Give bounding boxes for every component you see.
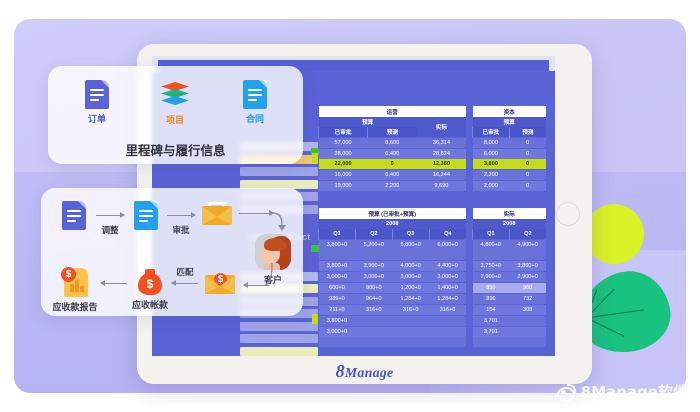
cell: 3,800 [473,159,510,170]
cell [473,250,547,261]
table-row[interactable]: 3,750+03,860+0 [473,261,547,272]
cell: 960 [509,283,546,294]
budget-col-q2: Q2 [355,229,392,240]
envelope-icon [202,202,232,225]
cell: 57,000 [319,138,368,149]
cell: 3,750+0 [473,261,510,272]
table-row[interactable]: 3,800+03,900+04,000+04,400+0 [319,261,467,272]
arrow-match [172,283,198,284]
arrow-curve-up [263,262,279,293]
cell: 1,200+0 [392,283,429,294]
cell: 732 [509,294,546,305]
operations-table[interactable]: 运营 预算 实际 已审批 预测 57,0008,60036,314 38,000… [318,106,466,191]
order-item[interactable]: 订单 [66,80,128,125]
cell: 3,000+0 [355,272,392,283]
cell [509,327,546,338]
table-row[interactable] [319,337,467,347]
table-row[interactable] [473,337,547,347]
arrow-to-customer [239,213,273,214]
milestone-card: 订单 项目 合同 里程碑与履行信息 [48,66,303,164]
cell: 308 [509,305,546,316]
receivables-flow-card: 调整 审批 客户 [41,188,303,316]
cell: 8,600 [368,138,417,149]
cell: 4,900+0 [509,240,546,251]
arrow-approve [167,215,195,216]
cell: 0 [509,159,546,170]
receivable-report-icon: $ [62,268,88,297]
cell: 16,244 [417,170,466,181]
cell: 316+0 [429,305,466,316]
cell [473,337,547,347]
budget-col-q3: Q3 [392,229,429,240]
table-row[interactable]: 8,0000 [473,138,547,149]
cell: 3,000+0 [319,327,356,338]
tablet-brand-logo: 8Manage [137,361,592,382]
budget-table[interactable]: 预算 (已审批+预算) 2008 Q1 Q2 Q3 Q4 3,800+05,20… [318,208,466,347]
actual-group-header: 实际 [473,208,547,219]
cell: 6,000 [473,149,510,160]
table-row[interactable]: 19,0002,2009,690 [319,181,467,192]
table-row[interactable]: 211+0316+0316+0316+0 [319,305,467,316]
brand-eight: 8 [336,361,345,381]
project-label: 项目 [144,113,206,126]
receivable-report-label: 应收款报告 [40,300,110,313]
cell: 8,000 [473,138,510,149]
milestone-caption: 里程碑与履行信息 [48,140,303,159]
capital-col-approved: 已审批 [473,127,510,138]
lime-circle-decoration [584,204,644,264]
table-row-highlighted[interactable]: 22,000012,380 [319,159,467,170]
table-row[interactable]: 3,000+03,000+03,000+03,000+0 [319,272,467,283]
document-icon [85,80,109,109]
receivable-label: 应收帐款 [119,298,181,311]
table-row[interactable]: 16,0006,40016,244 [319,170,467,181]
table-row[interactable]: 3,000+0 [319,327,467,338]
table-row-highlighted[interactable]: 3,8000 [473,159,547,170]
cell: 5,800+0 [392,240,429,251]
table-row[interactable]: 989+0964+01,284+01,284+0 [319,294,467,305]
brand-word: Manage [345,366,394,381]
document-icon [134,201,158,230]
cell: 3,800+0 [319,316,356,327]
cell: 2,900+0 [473,272,510,283]
cell [355,327,392,338]
cell: 6,400 [368,149,417,160]
capital-group-header: 资本 [473,106,547,117]
document-icon [243,80,267,109]
adjust-source-doc[interactable] [59,201,89,230]
cell: 22,000 [319,159,368,170]
cell: 28,624 [417,149,466,160]
money-envelope-icon: $ [205,271,235,294]
cell: 3,800+0 [319,261,356,272]
cell: 1,284+0 [429,294,466,305]
operations-subgroup-header: 预算 [319,117,417,127]
project-item[interactable]: 项目 [144,82,206,126]
approve-doc[interactable] [131,201,161,230]
receivable-report-block[interactable]: $ 应收款报告 [58,268,92,313]
cell: 1,400+0 [429,283,466,294]
table-row[interactable]: 896732 [473,294,547,305]
contract-item[interactable]: 合同 [224,80,286,125]
cell: 3,701 [473,316,510,327]
money-bag-icon: $ [137,267,163,295]
cell [509,316,546,327]
table-row[interactable]: 6,0000 [473,149,547,160]
cell: 3,000+0 [392,272,429,283]
cell [392,327,429,338]
cell: 6,000+0 [429,240,466,251]
cell [355,316,392,327]
actual-year: 2008 [473,219,547,229]
actual-table[interactable]: 实际 2008 Q1 Q2 4,800+04,900+0 3,750+03,86… [472,208,546,347]
cell: 211+0 [319,305,356,316]
operations-col-forecast: 预测 [368,127,417,138]
cell: 4,400+0 [429,261,466,272]
cell: 896 [473,294,510,305]
cell [429,316,466,327]
cell: 4,800+0 [473,240,510,251]
tablet-home-button[interactable] [556,202,580,226]
cell [392,316,429,327]
layers-icon [161,82,189,108]
contract-label: 合同 [224,112,286,125]
cell: 6,400 [368,170,417,181]
table-row[interactable]: 154308 [473,305,547,316]
cell: 36,314 [417,138,466,149]
cell: 3,701 [473,327,510,338]
operations-col-actual: 实际 [417,117,466,138]
document-icon [62,201,86,230]
payment-envelope[interactable]: $ [203,271,237,294]
cell: 19,000 [319,181,368,192]
table-row[interactable]: 3,800+0 [319,316,467,327]
actual-col-q1: Q1 [473,229,510,240]
adjust-label: 调整 [90,224,130,236]
cell: 0 [509,170,546,181]
budget-col-q4: Q4 [429,229,466,240]
cell: 4,000+0 [392,261,429,272]
watermark: 8Manage软件 [557,381,688,402]
capital-subgroup-header: 预算 [473,117,547,127]
table-row-selected[interactable]: 850960 [473,283,547,294]
receivable-block[interactable]: $ 应收帐款 [133,267,167,311]
cell: 3,860+0 [509,261,546,272]
table-row[interactable]: 57,0008,60036,314 [319,138,467,149]
cell: 0 [509,149,546,160]
table-row[interactable]: 3,701 [473,316,547,327]
cell: 5,200+0 [355,240,392,251]
table-row[interactable] [319,250,467,261]
table-row[interactable] [473,250,547,261]
cell [319,250,467,261]
screenshot-stage: 8Manage USD [0,0,700,412]
operations-col-approved: 已审批 [319,127,368,138]
table-row[interactable]: 600+0900+01,200+01,400+0 [319,283,467,294]
table-row[interactable]: 3,701 [473,327,547,338]
cell: 9,690 [417,181,466,192]
cell: 12,380 [417,159,466,170]
cell [429,327,466,338]
match-label: 匹配 [167,266,203,278]
cell: 600+0 [319,283,356,294]
cell: 2,200 [473,170,510,181]
approve-label: 审批 [161,224,201,236]
table-row[interactable]: 2,0000 [473,181,547,192]
cell: 3,800+0 [319,240,356,251]
cell: 154 [473,305,510,316]
order-label: 订单 [66,112,128,125]
table-row[interactable]: 38,0006,40028,624 [319,149,467,160]
watermark-text: 8Manage软件 [581,381,688,402]
approval-envelope[interactable] [200,202,234,225]
cell: 38,000 [319,149,368,160]
cell: 2,000 [473,181,510,192]
cell: 316+0 [392,305,429,316]
cell: 1,284+0 [392,294,429,305]
budget-group-header: 预算 (已审批+预算) [319,208,467,219]
capital-table[interactable]: 资本 预算 已审批 预测 8,0000 6,0000 3,8000 2,2000… [472,106,546,191]
table-row[interactable]: 2,2000 [473,170,547,181]
table-row[interactable]: 2,900+02,900+0 [473,272,547,283]
arrow-adjust [96,215,124,216]
cell: 964+0 [355,294,392,305]
cell: 900+0 [355,283,392,294]
cell: 850 [473,283,510,294]
arrow-report [101,283,127,284]
cell: 316+0 [355,305,392,316]
cell: 3,000+0 [319,272,356,283]
cell: 16,000 [319,170,368,181]
operations-group-header: 运营 [319,106,467,117]
cell: 2,200 [368,181,417,192]
weibo-icon [557,384,576,399]
cell: 989+0 [319,294,356,305]
budget-year: 2008 [319,219,467,229]
cell: 0 [368,159,417,170]
table-row[interactable]: 3,800+05,200+05,800+06,000+0 [319,240,467,251]
cell: 2,900+0 [509,272,546,283]
capital-col-forecast: 预测 [509,127,546,138]
cell: 3,000+0 [429,272,466,283]
cell: 0 [509,181,546,192]
actual-col-q2: Q2 [509,229,546,240]
cell [319,337,467,347]
budget-col-q1: Q1 [319,229,356,240]
cell: 0 [509,138,546,149]
cell: 3,900+0 [355,261,392,272]
table-row[interactable]: 4,800+04,900+0 [473,240,547,251]
